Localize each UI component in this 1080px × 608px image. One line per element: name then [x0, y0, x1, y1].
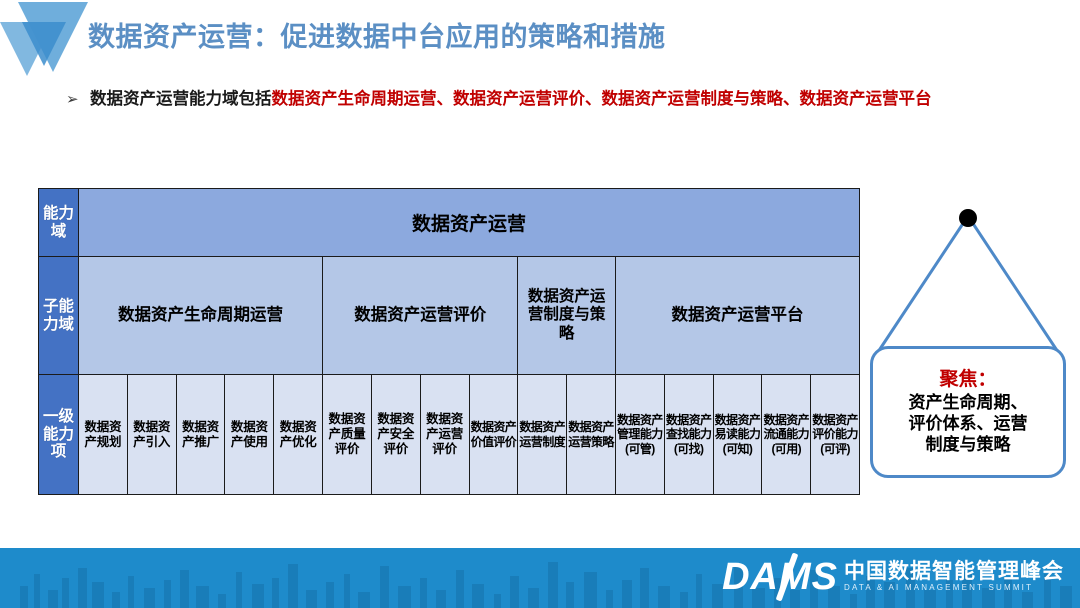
item-cell: 数据资产优化	[274, 375, 323, 495]
table-row-domain: 能力域 数据资产运营	[39, 189, 860, 257]
item-cell: 数据资产质量评价	[323, 375, 372, 495]
item-cell: 数据资产流通能力(可用)	[762, 375, 811, 495]
item-cell: 数据资产运营评价	[420, 375, 469, 495]
bullet-text: 数据资产运营能力域包括数据资产生命周期运营、数据资产运营评价、数据资产运营制度与…	[90, 88, 1006, 112]
dams-brand-cn-block: 中国数据智能管理峰会 DATA & AI MANAGEMENT SUMMIT	[844, 560, 1064, 593]
triangle-shape-overlap	[22, 22, 66, 66]
bullet-text-highlight: 数据资产生命周期运营、数据资产运营评价、数据资产运营制度与策略、数据资产运营平台	[272, 90, 932, 108]
focus-body-line2: 评价体系、运营	[909, 413, 1028, 434]
domain-cell: 数据资产运营	[79, 189, 860, 257]
item-cell: 数据资产运营策略	[567, 375, 616, 495]
capability-table: 能力域 数据资产运营 子能力域 数据资产生命周期运营 数据资产运营评价 数据资产…	[38, 188, 860, 495]
row-label-domain: 能力域	[39, 189, 79, 257]
sub-domain-cell-platform: 数据资产运营平台	[615, 257, 859, 375]
item-cell: 数据资产使用	[225, 375, 274, 495]
focus-body-line1: 资产生命周期、	[909, 392, 1028, 413]
focus-tag-box: 聚焦： 资产生命周期、 评价体系、运营 制度与策略	[870, 346, 1066, 478]
item-cell: 数据资产推广	[176, 375, 225, 495]
item-cell: 数据资产运营制度	[518, 375, 567, 495]
item-cell: 数据资产引入	[127, 375, 176, 495]
row-label-items: 一级能力项	[39, 375, 79, 495]
bullet-text-lead: 数据资产运营能力域包括	[90, 90, 272, 108]
bullet-paragraph: ➢ 数据资产运营能力域包括数据资产生命周期运营、数据资产运营评价、数据资产运营制…	[66, 88, 1006, 112]
dams-brand-cn: 中国数据智能管理峰会	[844, 560, 1064, 583]
sub-domain-cell-evaluation: 数据资产运营评价	[323, 257, 518, 375]
item-cell: 数据资产规划	[79, 375, 128, 495]
item-cell: 数据资产查找能力(可找)	[664, 375, 713, 495]
focus-body-line3: 制度与策略	[926, 434, 1011, 455]
row-label-subdomain: 子能力域	[39, 257, 79, 375]
dams-logo: DAMS 中国数据智能管理峰会 DATA & AI MANAGEMENT SUM…	[722, 554, 1064, 600]
item-cell: 数据资产安全评价	[371, 375, 420, 495]
sub-domain-cell-policy: 数据资产运营制度与策略	[518, 257, 616, 375]
focus-callout: 聚焦： 资产生命周期、 评价体系、运营 制度与策略	[862, 200, 1080, 490]
item-cell: 数据资产价值评价	[469, 375, 518, 495]
sub-domain-cell-lifecycle: 数据资产生命周期运营	[79, 257, 323, 375]
item-cell: 数据资产管理能力(可管)	[615, 375, 664, 495]
table-row-items: 一级能力项 数据资产规划 数据资产引入 数据资产推广 数据资产使用 数据资产优化…	[39, 375, 860, 495]
dams-wordmark: DAMS	[722, 558, 838, 596]
table-row-subdomain: 子能力域 数据资产生命周期运营 数据资产运营评价 数据资产运营制度与策略 数据资…	[39, 257, 860, 375]
item-cell: 数据资产评价能力(可评)	[811, 375, 860, 495]
slide-title: 数据资产运营：促进数据中台应用的策略和措施	[88, 15, 948, 54]
bullet-arrow-icon: ➢	[66, 90, 79, 108]
dams-brand-en: DATA & AI MANAGEMENT SUMMIT	[844, 583, 1064, 593]
footer-band: DAMS 中国数据智能管理峰会 DATA & AI MANAGEMENT SUM…	[0, 548, 1080, 608]
item-cell: 数据资产易读能力(可知)	[713, 375, 762, 495]
brand-logo	[0, 0, 86, 78]
focus-heading: 聚焦：	[939, 369, 996, 392]
